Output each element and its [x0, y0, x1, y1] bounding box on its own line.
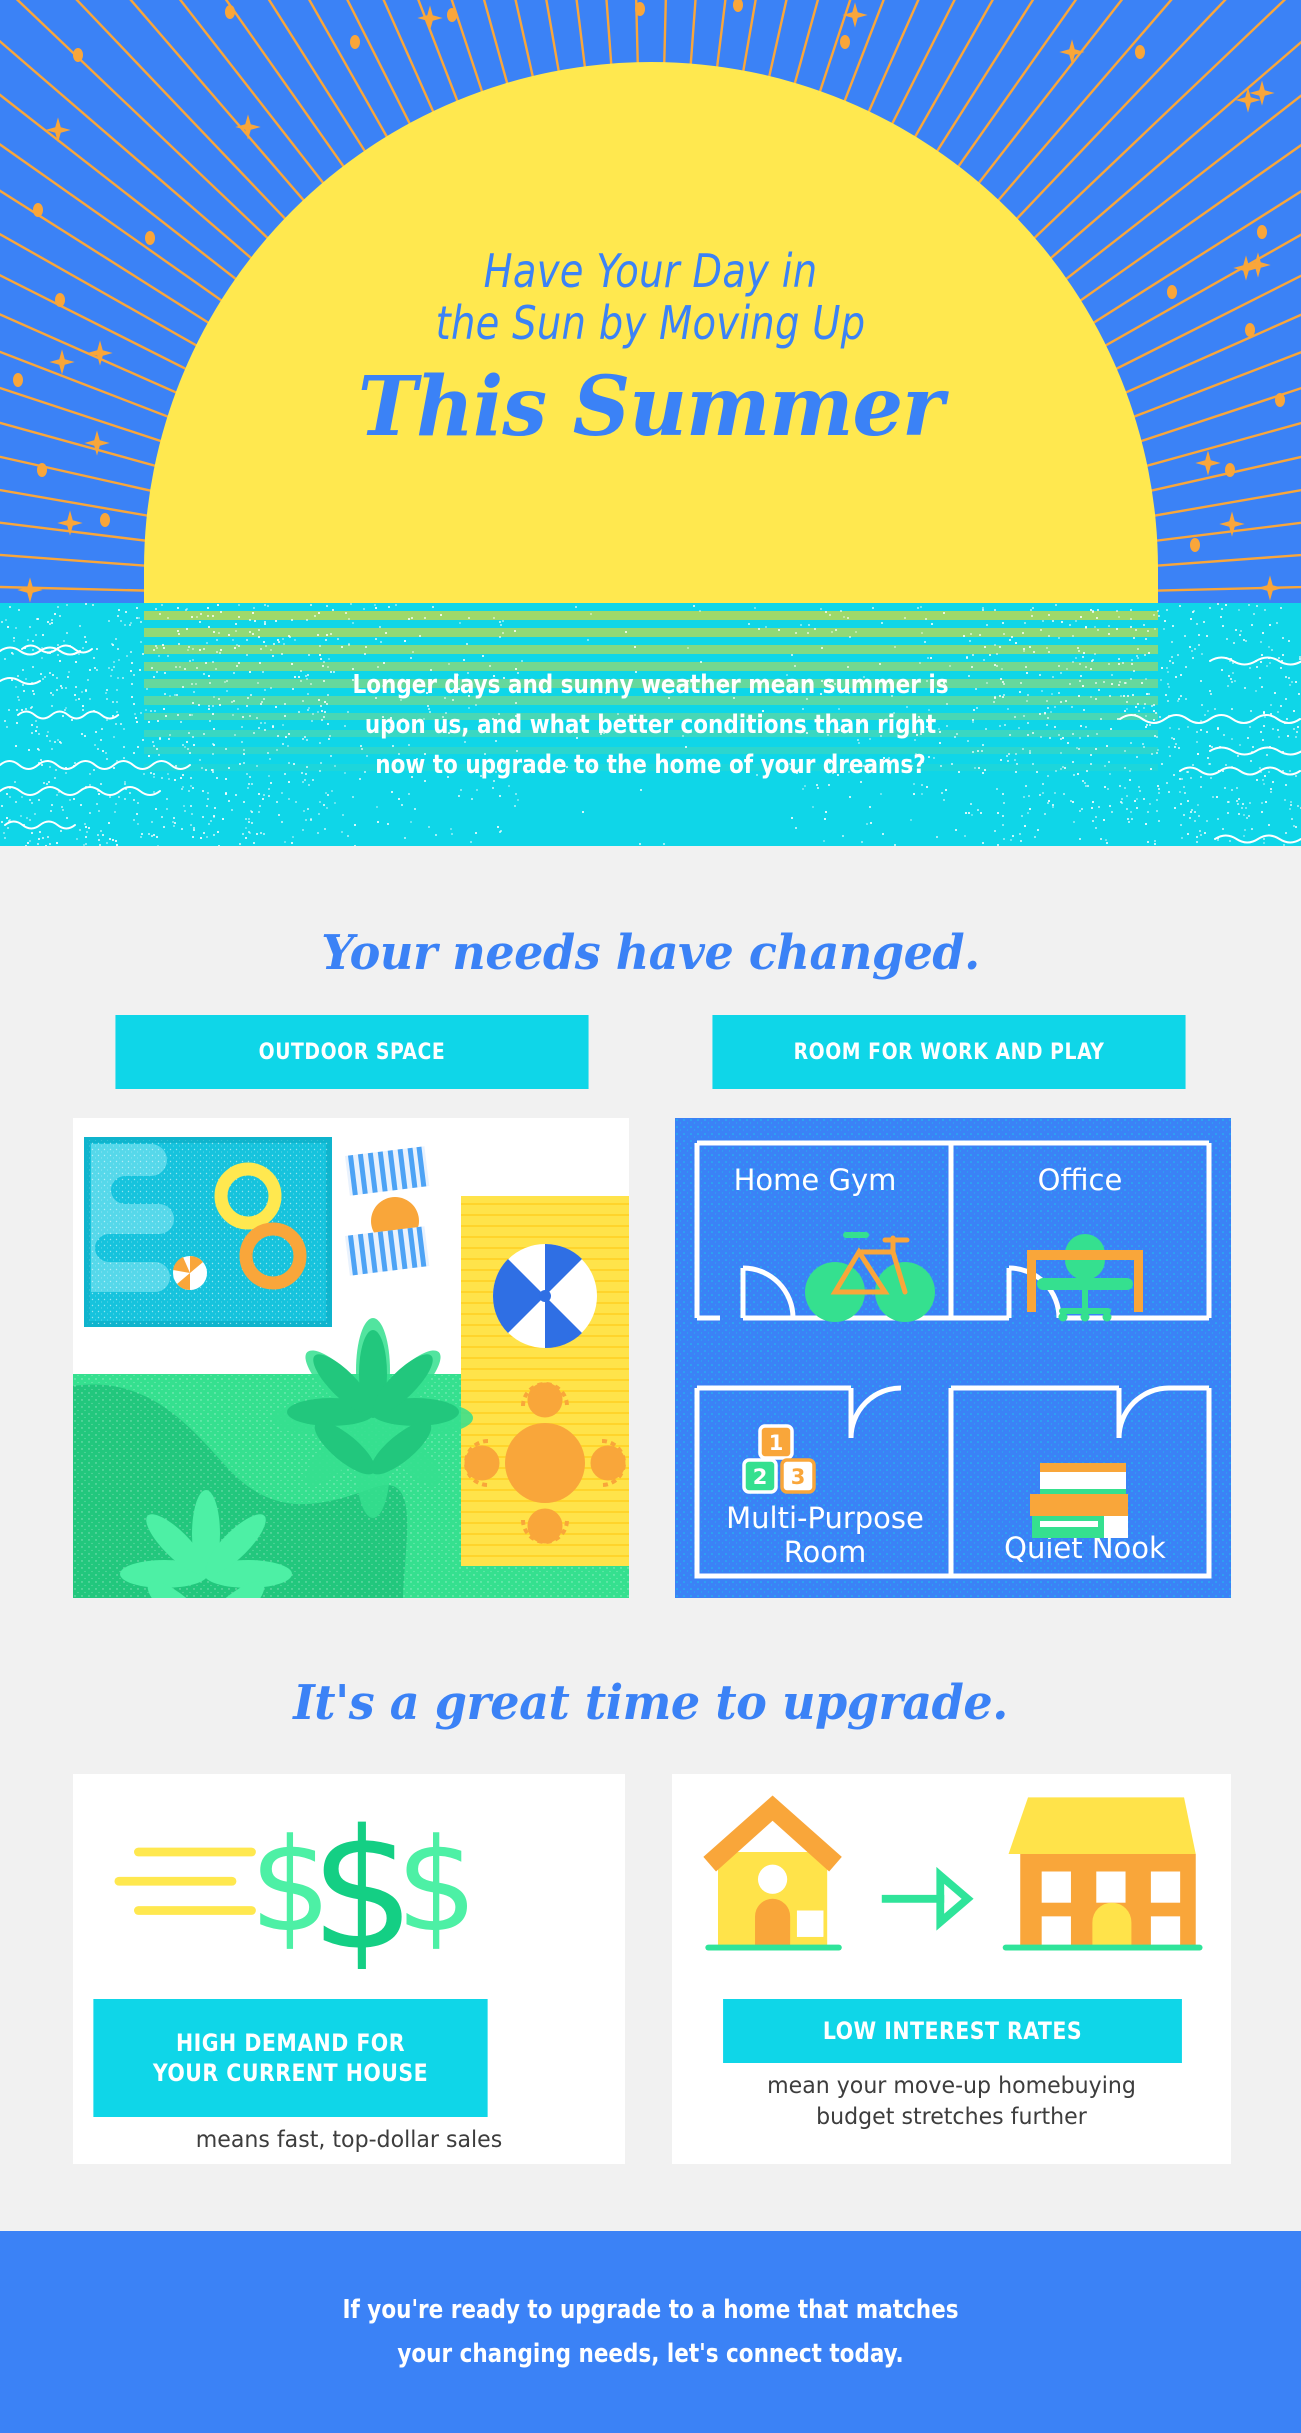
water-intro-line3: now to upgrade to the home of your dream… — [52, 745, 1249, 785]
outdoor-scene-svg — [73, 1118, 629, 1598]
high-demand-badge-line1: HIGH DEMAND FOR — [176, 2028, 405, 2058]
room-work-play-label: ROOM FOR WORK AND PLAY — [712, 1015, 1185, 1089]
low-interest-caption-line2: budget stretches further — [683, 2102, 1220, 2133]
dollar-signs-icon: $ $ $ — [73, 1774, 625, 1969]
needs-section-title: Your needs have changed. — [26, 925, 1275, 981]
hero-title-highlight: This Summer — [20, 359, 1282, 455]
infographic-page: Have Your Day in the Sun by Moving Up Th… — [0, 0, 1301, 2433]
hero-section: Have Your Day in the Sun by Moving Up Th… — [0, 0, 1301, 603]
arrow-right-icon — [882, 1875, 968, 1922]
small-house-icon — [703, 1795, 841, 1950]
high-demand-badge-line2: YOUR CURRENT HOUSE — [153, 2058, 428, 2088]
room-label-home-gym: Home Gym — [734, 1163, 897, 1197]
floorplan-illustration: Home Gym Office Multi-Purpose Room Quiet… — [675, 1118, 1231, 1598]
low-interest-badge-line1: LOW INTEREST RATES — [823, 2016, 1082, 2046]
hero-title-line1: Have Your Day in — [46, 245, 1256, 297]
room-work-play-label-text: ROOM FOR WORK AND PLAY — [794, 1040, 1105, 1065]
room-label-multi-2: Room — [784, 1535, 867, 1569]
house-upgrade-icon — [672, 1774, 1231, 1969]
high-demand-caption: means fast, top-dollar sales — [84, 2125, 614, 2156]
beach-ball-icon — [173, 1256, 207, 1290]
room-label-multi-1: Multi-Purpose — [726, 1501, 924, 1535]
low-interest-caption-line1: mean your move-up homebuying — [683, 2071, 1220, 2102]
high-demand-badge: HIGH DEMAND FOR YOUR CURRENT HOUSE — [93, 1999, 487, 2117]
water-section: Longer days and sunny weather mean summe… — [0, 603, 1301, 846]
footer-cta-line1: If you're ready to upgrade to a home tha… — [52, 2288, 1249, 2332]
hero-title-line2: the Sun by Moving Up — [46, 297, 1256, 349]
footer-cta-text: If you're ready to upgrade to a home tha… — [52, 2288, 1249, 2376]
outdoor-space-label: OUTDOOR SPACE — [115, 1015, 588, 1089]
high-demand-caption-line1: means fast, top-dollar sales — [84, 2125, 614, 2156]
water-intro-text: Longer days and sunny weather mean summe… — [52, 665, 1249, 785]
low-interest-badge: LOW INTEREST RATES — [723, 1999, 1182, 2063]
svg-text:3: 3 — [791, 1465, 806, 1489]
footer-cta-line2: your changing needs, let's connect today… — [52, 2332, 1249, 2376]
svg-text:1: 1 — [769, 1431, 784, 1455]
svg-text:2: 2 — [753, 1465, 768, 1489]
pool-icon — [87, 1140, 329, 1324]
footer-cta: If you're ready to upgrade to a home tha… — [0, 2231, 1301, 2433]
hero-title-block: Have Your Day in the Sun by Moving Up Th… — [0, 245, 1301, 455]
book-stack-icon — [1030, 1463, 1128, 1538]
room-label-office: Office — [1038, 1163, 1123, 1197]
upgrade-section-title: It's a great time to upgrade. — [26, 1675, 1275, 1731]
large-house-icon — [1003, 1797, 1203, 1950]
water-intro-line1: Longer days and sunny weather mean summe… — [52, 665, 1249, 705]
water-intro-line2: upon us, and what better conditions than… — [52, 705, 1249, 745]
patio-umbrella-icon — [493, 1244, 597, 1348]
low-interest-caption: mean your move-up homebuying budget stre… — [683, 2071, 1220, 2133]
floorplan-svg: Home Gym Office Multi-Purpose Room Quiet… — [675, 1118, 1231, 1598]
svg-text:$: $ — [396, 1812, 478, 1961]
outdoor-space-label-text: OUTDOOR SPACE — [259, 1040, 446, 1065]
outdoor-space-illustration — [73, 1118, 629, 1598]
